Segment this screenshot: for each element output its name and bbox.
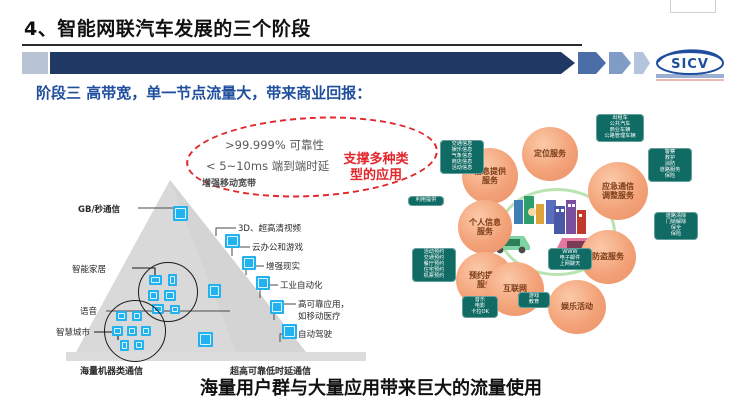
tag-vehicle-types: 出租车 公共汽车 商业车辆 公路管理车辆	[596, 114, 644, 142]
bubble-emergency-service-l1: 应急通信	[602, 182, 634, 191]
pyramid-label-industrial: 工业自动化	[280, 279, 323, 291]
pyramid-icon-city-2	[132, 311, 142, 321]
pyramid-diagram: GB/秒通信 智能家居 语音 智慧城市 3D、超高清视频 云办公和游戏 增强现实…	[60, 180, 400, 370]
top-notch-decoration	[670, 0, 716, 13]
tag-internet-types: WWW 电子邮件 上网聊天	[548, 248, 592, 270]
tag-emergency-4: 保险	[651, 174, 689, 180]
svg-text:SICV: SICV	[671, 57, 709, 72]
bubble-personal-info-l2: 服务	[477, 227, 493, 236]
tag-emergency-types: 警察 救护 消防 道路服务 保险	[648, 148, 692, 182]
tag-game-1: 教育	[521, 300, 547, 306]
pyramid-label-reliable-2: 如移动医疗	[298, 310, 341, 322]
pyramid-label-cloud-office: 云办公和游戏	[252, 241, 303, 253]
pyramid-icon-home-2	[168, 274, 177, 286]
pyramid-label-ar: 增强现实	[266, 260, 300, 272]
title-underline	[22, 44, 582, 46]
scene-buildings-icon	[550, 196, 594, 236]
bubble-location-service-l1: 定位服务	[534, 149, 566, 158]
pyramid-icon-sensor	[198, 332, 213, 347]
kpi-reliability: >99.999% 可靠性	[225, 137, 324, 153]
tag-media-2: 卡拉OK	[465, 310, 495, 316]
slide-canvas: 4、智能网联汽车发展的三个阶段 SICV SICV 上海智能网联汽车研发中心有限…	[0, 0, 740, 403]
kpi-highlight-line2: 型的应用	[350, 168, 402, 183]
chevron-band	[22, 52, 652, 74]
tag-usage-0: 利用提供	[411, 198, 441, 204]
bubble-emergency-service: 应急通信 调整服务	[588, 162, 648, 220]
pyramid-icon-home-6	[170, 305, 180, 314]
pyramid-icon-home-4	[164, 290, 176, 301]
pyramid-label-smart-home: 智能家居	[72, 263, 106, 275]
pyramid-icon-cloud-office	[242, 256, 256, 270]
tag-vehicle-types-3: 公路管理车辆	[599, 134, 641, 140]
bottom-caption: 海量用户群与大量应用带来巨大的流量使用	[200, 374, 542, 400]
logo-subtext: 上海智能网联汽车研发中心有限公司	[648, 82, 649, 83]
band-segment-4	[609, 52, 631, 74]
kpi-latency: < 5~10ms 端到端时延	[206, 158, 329, 174]
kpi-highlight-line1: 支撑多种类	[343, 152, 408, 167]
band-segment-2	[50, 52, 575, 74]
pyramid-icon-autodrive	[282, 324, 297, 339]
service-cloud-diagram: 信息提供 服务 定位服务 应急通信 调整服务 个人信息 服务 预约提供 服务 防…	[400, 100, 740, 350]
page-title: 4、智能网联汽车发展的三个阶段	[24, 14, 311, 41]
tag-reservation-4: 机票预约	[415, 274, 453, 280]
pyramid-icon-city-4	[127, 326, 137, 336]
tag-antitheft-3: 保险	[657, 232, 695, 238]
pyramid-icon-industry	[270, 300, 284, 314]
tag-antitheft-types: 道路清除 门锁解除 保全 保险	[654, 212, 698, 240]
sicv-logo: SICV SICV 上海智能网联汽车研发中心有限公司	[648, 42, 732, 82]
tag-media-types: 音乐 电影 卡拉OK	[462, 296, 498, 318]
bubble-emergency-service-l2: 调整服务	[602, 191, 634, 200]
pyramid-label-gbps: GB/秒通信	[78, 203, 120, 215]
bubble-personal-info-service: 个人信息 服务	[458, 200, 512, 254]
logo-wordmark: SICV	[648, 82, 649, 83]
tag-internet-2: 上网聊天	[551, 262, 589, 268]
pyramid-icon-voice	[208, 284, 221, 298]
pyramid-icon-ar	[256, 276, 270, 290]
pyramid-icon-city-5	[141, 326, 151, 336]
pyramid-icon-video	[225, 234, 240, 248]
pyramid-icon-city-6	[120, 340, 129, 351]
bubble-antitheft-l1: 防盗服务	[592, 252, 624, 261]
pyramid-label-voice: 语音	[80, 305, 97, 317]
pyramid-label-3d-video: 3D、超高清视频	[238, 222, 301, 234]
pyramid-bottom-left-label: 海量机器类通信	[80, 364, 143, 377]
tag-info-types: 交通信息 娱乐信息 气象信息 商店信息 活动信息	[440, 140, 484, 174]
pyramid-label-reliable-1: 高可靠应用，	[298, 298, 349, 310]
pyramid-icon-gbps	[173, 206, 188, 221]
pyramid-icon-home-1	[149, 275, 162, 285]
kpi-embb: 增强移动宽带	[202, 176, 256, 189]
bubble-entertainment-l1: 娱乐活动	[561, 302, 593, 311]
band-segment-3	[578, 52, 606, 74]
band-segment-1	[22, 52, 48, 74]
tag-reservation-types: 活动预约 交通预约 餐厅预约 住宅预约 机票预约	[412, 248, 456, 282]
pyramid-icon-home-3	[148, 290, 159, 301]
bubble-personal-info-l1: 个人信息	[469, 218, 501, 227]
pyramid-icon-city-7	[134, 340, 144, 350]
pyramid-label-smart-city: 智慧城市	[56, 326, 90, 338]
pyramid-icon-city-3	[112, 326, 123, 336]
tag-info-types-4: 活动信息	[443, 166, 481, 172]
pyramid-icon-city-1	[116, 311, 127, 321]
pyramid-label-autodrive: 自动驾驶	[298, 328, 332, 340]
bubble-info-service-l2: 服务	[482, 176, 498, 185]
stage-heading: 阶段三 高带宽，单一节点流量大，带来商业回报：	[36, 82, 371, 103]
bubble-entertainment: 娱乐活动	[548, 280, 606, 334]
tag-game-education: 游戏 教育	[518, 292, 550, 308]
tag-usage-provision: 利用提供	[408, 196, 444, 206]
bubble-location-service: 定位服务	[522, 127, 578, 181]
